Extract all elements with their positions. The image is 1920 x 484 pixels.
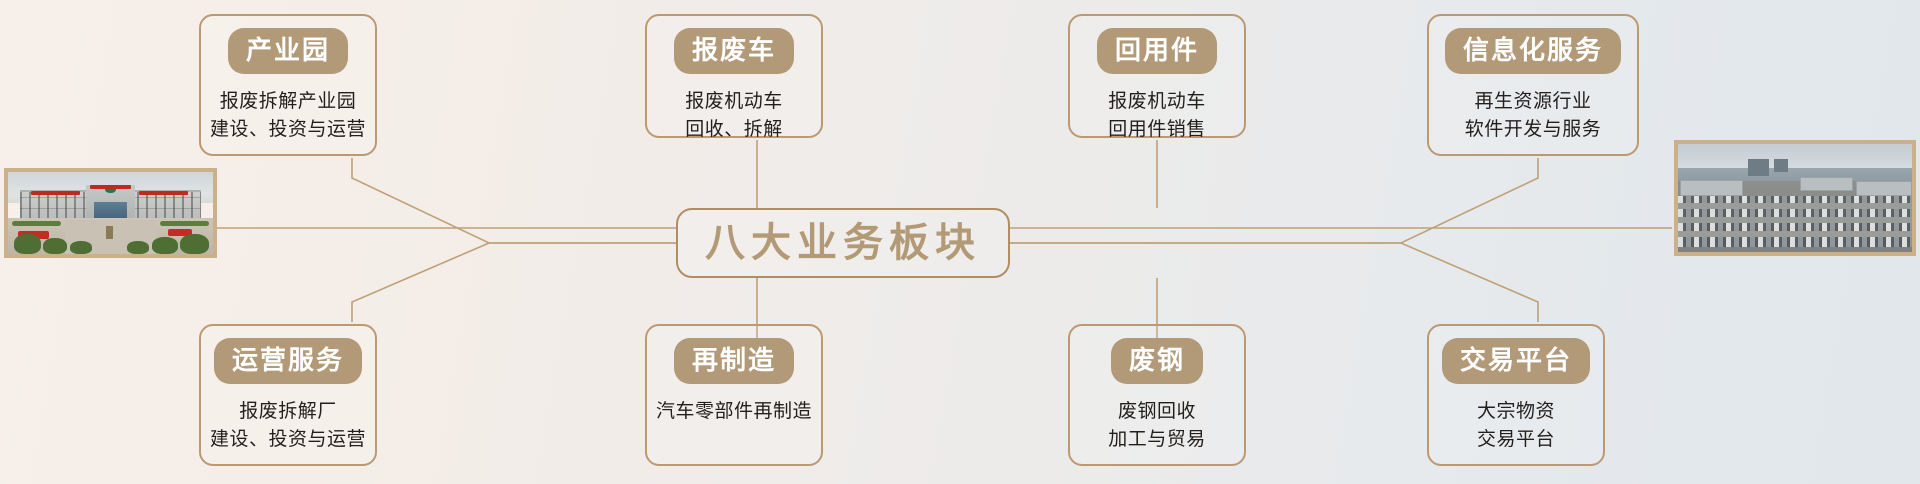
tree-1	[14, 234, 41, 254]
card-description: 废钢回收 加工与贸易	[1108, 398, 1206, 453]
hedge-right	[160, 221, 209, 226]
tree-3	[70, 241, 93, 254]
headquarters-building-photo	[4, 168, 217, 258]
parked-vehicle-row-4	[1678, 237, 1912, 247]
card-badge: 回用件	[1097, 28, 1217, 74]
hedge-left	[12, 221, 61, 226]
card-badge: 再制造	[674, 338, 794, 384]
yard-photo-content	[1678, 144, 1912, 252]
tower-block-2	[1774, 159, 1788, 172]
warehouse-shed-center	[1800, 177, 1853, 191]
connector-top-1	[352, 158, 676, 243]
warehouse-shed-right	[1856, 181, 1912, 196]
parked-vehicle-row-3	[1678, 223, 1912, 232]
connector-bottom-1	[352, 243, 676, 322]
card-description: 大宗物资 交易平台	[1477, 398, 1555, 453]
tree-4	[127, 241, 150, 254]
card-badge: 交易平台	[1442, 338, 1590, 384]
card-information-service[interactable]: 信息化服务 再生资源行业 软件开发与服务	[1427, 14, 1639, 156]
tree-2	[43, 238, 68, 254]
card-scrap-steel[interactable]: 废钢 废钢回收 加工与贸易	[1068, 324, 1246, 466]
business-sectors-diagram: 八大业务板块 产业园 报废拆解产业园 建设、投资与运营 报废车 报废机动车 回收…	[0, 0, 1920, 484]
rooftop-sign-right	[139, 191, 188, 195]
card-description: 报废拆解产业园 建设、投资与运营	[210, 88, 366, 143]
card-industrial-park[interactable]: 产业园 报废拆解产业园 建设、投资与运营	[199, 14, 377, 156]
card-operation-service[interactable]: 运营服务 报废拆解厂 建设、投资与运营	[199, 324, 377, 466]
card-badge: 废钢	[1111, 338, 1203, 384]
tree-6	[180, 234, 209, 255]
parked-vehicle-row-2	[1678, 209, 1912, 218]
card-badge: 产业园	[228, 28, 348, 74]
center-node-label: 八大业务板块	[705, 223, 981, 263]
card-scrap-vehicle[interactable]: 报废车 报废机动车 回收、拆解	[645, 14, 823, 138]
card-trading-platform[interactable]: 交易平台 大宗物资 交易平台	[1427, 324, 1605, 466]
card-remanufacturing[interactable]: 再制造 汽车零部件再制造	[645, 324, 823, 466]
rooftop-sign-center	[90, 185, 131, 189]
tree-5	[152, 237, 179, 254]
center-node[interactable]: 八大业务板块	[676, 208, 1010, 278]
rooftop-sign-left	[31, 191, 80, 195]
card-badge: 信息化服务	[1445, 28, 1621, 74]
tower-block	[1748, 159, 1769, 176]
connector-top-4	[1010, 158, 1538, 243]
card-description: 报废拆解厂 建设、投资与运营	[210, 398, 366, 453]
warehouse-shed-left	[1680, 180, 1743, 196]
card-badge: 运营服务	[214, 338, 362, 384]
parked-vehicle-row-1	[1678, 196, 1912, 204]
connector-bottom-4	[1010, 243, 1538, 322]
card-reusable-parts[interactable]: 回用件 报废机动车 回用件销售	[1068, 14, 1246, 138]
building-photo-content	[8, 172, 213, 254]
vehicle-yard-aerial-photo	[1674, 140, 1916, 256]
plaza-statue	[106, 226, 112, 239]
card-description: 报废机动车 回收、拆解	[685, 88, 783, 143]
entrance-glass	[94, 202, 127, 220]
card-description: 报废机动车 回用件销售	[1108, 88, 1206, 143]
card-description: 再生资源行业 软件开发与服务	[1465, 88, 1602, 143]
card-description: 汽车零部件再制造	[656, 398, 812, 426]
card-badge: 报废车	[674, 28, 794, 74]
